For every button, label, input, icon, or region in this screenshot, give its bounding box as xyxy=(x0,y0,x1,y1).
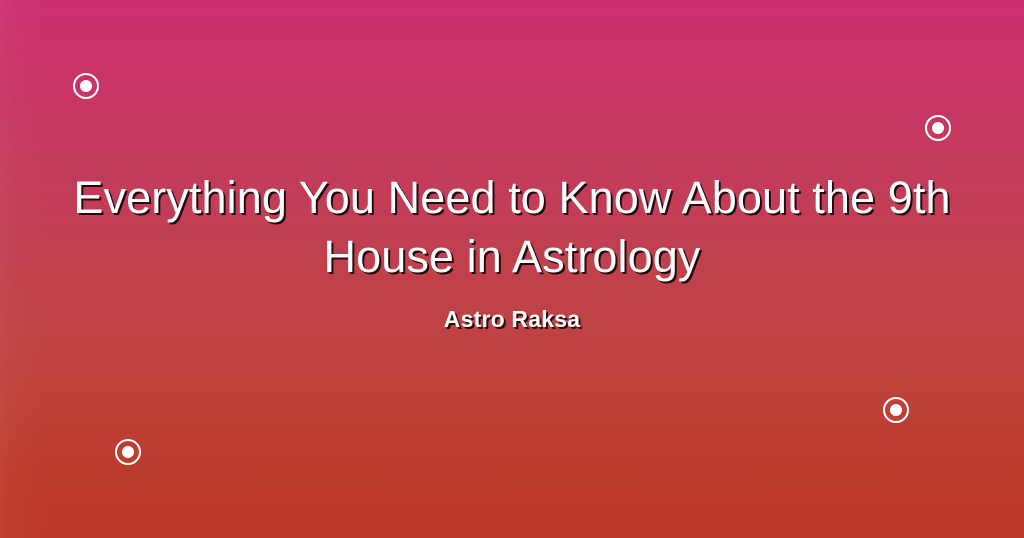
title-slide: Everything You Need to Know About the 9t… xyxy=(0,0,1024,538)
slide-title: Everything You Need to Know About the 9t… xyxy=(26,168,998,286)
ring-decoration-top-left-icon xyxy=(73,73,99,99)
slide-subtitle: Astro Raksa xyxy=(26,304,998,334)
ring-center-dot xyxy=(890,404,902,416)
ring-decoration-top-right-icon xyxy=(925,115,951,141)
ring-center-dot xyxy=(122,446,134,458)
ring-center-dot xyxy=(80,80,92,92)
ring-center-dot xyxy=(932,122,944,134)
slide-content: Everything You Need to Know About the 9t… xyxy=(0,168,1024,334)
ring-decoration-bottom-left-icon xyxy=(115,439,141,465)
ring-decoration-bottom-right-icon xyxy=(883,397,909,423)
